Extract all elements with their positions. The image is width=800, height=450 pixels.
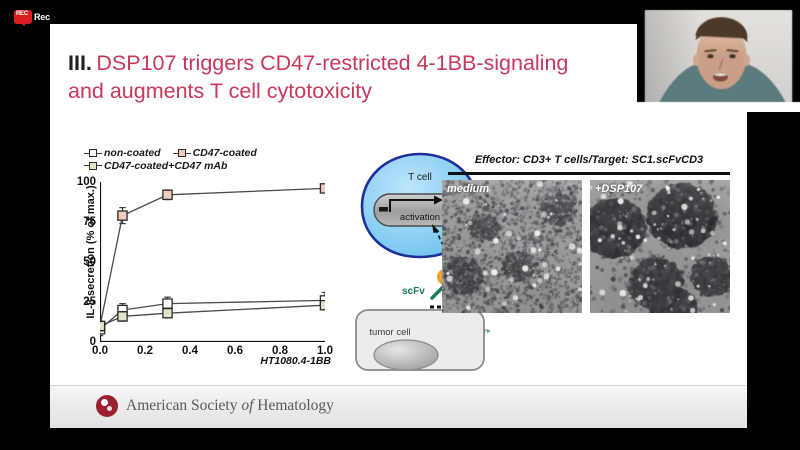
chart-x-tick: 0.0 — [92, 345, 108, 357]
ash-logo-icon — [96, 395, 118, 417]
presenter-video-tile[interactable] — [637, 0, 800, 112]
legend-marker-icon — [84, 161, 102, 171]
micrograph-dsp107: +DSP107 — [590, 180, 730, 313]
chart-y-tick: 50 — [83, 256, 96, 268]
presenter-video-feed — [637, 0, 800, 112]
legend-marker-icon — [84, 148, 102, 158]
il8-secretion-chart: non-coated CD47-coated CD47-coat — [70, 148, 335, 373]
chart-plot-area: 0255075100 0.00.20.40.60.81.0 — [100, 182, 325, 342]
micrograph-caption-medium: medium — [447, 183, 489, 195]
micrograph-dsp107-image — [590, 180, 730, 313]
legend-item-non-coated: non-coated — [84, 148, 161, 159]
chart-y-tick: 75 — [83, 216, 96, 228]
scfv-label: scFv — [402, 286, 425, 297]
micrograph-caption-dsp107: +DSP107 — [595, 183, 642, 195]
chart-legend: non-coated CD47-coated CD47-coat — [84, 148, 334, 171]
micrograph-panel: Effector: CD3+ T cells/Target: SC1.scFvC… — [442, 154, 732, 374]
ash-name-prefix: American Society — [126, 397, 241, 414]
slide-title: III. DSP107 triggers CD47-restricted 4-1… — [68, 50, 648, 106]
legend-item-cd47-coated: CD47-coated — [173, 148, 257, 159]
title-line-2: and augments T cell cytotoxicity — [68, 79, 372, 103]
activation-label: activation — [400, 212, 440, 223]
chart-x-tick: 0.2 — [137, 345, 153, 357]
chart-svg — [100, 182, 325, 342]
title-number: III. — [68, 51, 92, 75]
legend-row-1: non-coated CD47-coated — [84, 148, 334, 159]
title-line-1: DSP107 triggers CD47-restricted 4-1BB-si… — [96, 51, 568, 75]
tumor-cell-label: tumor cell — [369, 327, 410, 338]
legend-label-non-coated: non-coated — [104, 148, 161, 159]
micrograph-header: Effector: CD3+ T cells/Target: SC1.scFvC… — [448, 154, 730, 166]
micrograph-underline — [448, 172, 730, 175]
t-cell-label: T cell — [408, 172, 432, 183]
chart-y-tick: 100 — [77, 176, 96, 188]
legend-label-cd47-coated-mab: CD47-coated+CD47 mAb — [104, 161, 227, 172]
ash-name-italic: of — [241, 397, 257, 414]
recording-label: Rec — [34, 12, 50, 22]
record-badge-icon: REC — [14, 10, 32, 24]
ash-name-suffix: Hematology — [257, 397, 334, 414]
chart-y-tick: 25 — [83, 296, 96, 308]
chart-x-tick: 0.4 — [182, 345, 198, 357]
micrograph-medium-image — [442, 180, 582, 313]
chart-annotation: HT1080.4-1BB — [260, 355, 331, 367]
recording-indicator: REC Rec — [14, 10, 50, 24]
legend-marker-icon — [173, 148, 191, 158]
legend-item-cd47-coated-mab: CD47-coated+CD47 mAb — [84, 161, 227, 172]
screen-root: REC Rec III. DSP107 triggers CD47-restri… — [0, 0, 800, 450]
legend-label-cd47-coated: CD47-coated — [193, 148, 257, 159]
chart-x-tick: 0.6 — [227, 345, 243, 357]
legend-row-2: CD47-coated+CD47 mAb — [84, 161, 334, 172]
micrograph-medium: medium — [442, 180, 582, 313]
ash-org-name: American Society of Hematology — [126, 397, 334, 415]
record-badge-text: REC — [16, 11, 28, 17]
slide-footer: American Society of Hematology — [50, 385, 747, 428]
